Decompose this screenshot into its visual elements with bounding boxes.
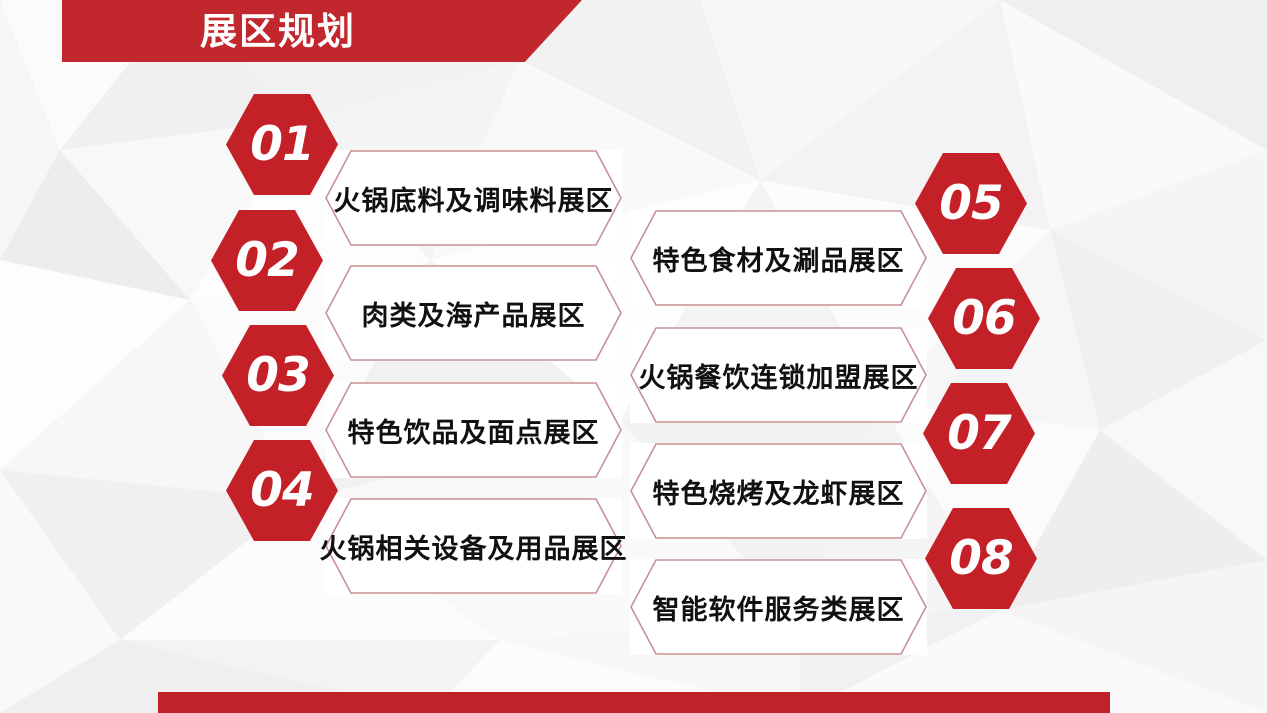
zone-plate-08[interactable]: 智能软件服务类展区 bbox=[630, 559, 927, 655]
zone-number-07: 07 bbox=[923, 383, 1035, 484]
zone-label-07: 特色烧烤及龙虾展区 bbox=[630, 443, 927, 539]
zone-label-02: 肉类及海产品展区 bbox=[325, 265, 622, 361]
zone-plate-03[interactable]: 特色饮品及面点展区 bbox=[325, 382, 622, 478]
zone-badge-07[interactable]: 07 bbox=[923, 383, 1035, 484]
zone-label-01: 火锅底料及调味料展区 bbox=[325, 150, 622, 246]
zone-plate-05[interactable]: 特色食材及涮品展区 bbox=[630, 210, 927, 306]
zone-number-01: 01 bbox=[226, 94, 338, 195]
bottom-accent-bar bbox=[158, 692, 1110, 713]
zone-plate-07[interactable]: 特色烧烤及龙虾展区 bbox=[630, 443, 927, 539]
zone-badge-06[interactable]: 06 bbox=[928, 268, 1040, 369]
zone-plate-04[interactable]: 火锅相关设备及用品展区 bbox=[325, 498, 622, 594]
zone-label-06: 火锅餐饮连锁加盟展区 bbox=[630, 327, 927, 423]
zone-plate-06[interactable]: 火锅餐饮连锁加盟展区 bbox=[630, 327, 927, 423]
zone-number-03: 03 bbox=[222, 325, 334, 426]
zone-badge-04[interactable]: 04 bbox=[226, 440, 338, 541]
page-title: 展区规划 bbox=[200, 8, 460, 56]
zone-number-06: 06 bbox=[928, 268, 1040, 369]
zone-badge-02[interactable]: 02 bbox=[211, 210, 323, 311]
zone-badge-08[interactable]: 08 bbox=[925, 508, 1037, 609]
zone-number-02: 02 bbox=[211, 210, 323, 311]
zone-label-08: 智能软件服务类展区 bbox=[630, 559, 927, 655]
zone-number-04: 04 bbox=[226, 440, 338, 541]
zone-number-05: 05 bbox=[915, 153, 1027, 254]
zone-label-03: 特色饮品及面点展区 bbox=[325, 382, 622, 478]
zone-number-08: 08 bbox=[925, 508, 1037, 609]
zone-badge-03[interactable]: 03 bbox=[222, 325, 334, 426]
zone-plate-02[interactable]: 肉类及海产品展区 bbox=[325, 265, 622, 361]
zone-badge-05[interactable]: 05 bbox=[915, 153, 1027, 254]
slide-canvas: 展区规划 火锅底料及调味料展区 肉类及海产品展区 特色饮品及面点展区 火锅相关设… bbox=[0, 0, 1267, 713]
zone-plate-01[interactable]: 火锅底料及调味料展区 bbox=[325, 150, 622, 246]
zone-label-05: 特色食材及涮品展区 bbox=[630, 210, 927, 306]
zone-label-04: 火锅相关设备及用品展区 bbox=[325, 498, 622, 594]
zone-badge-01[interactable]: 01 bbox=[226, 94, 338, 195]
